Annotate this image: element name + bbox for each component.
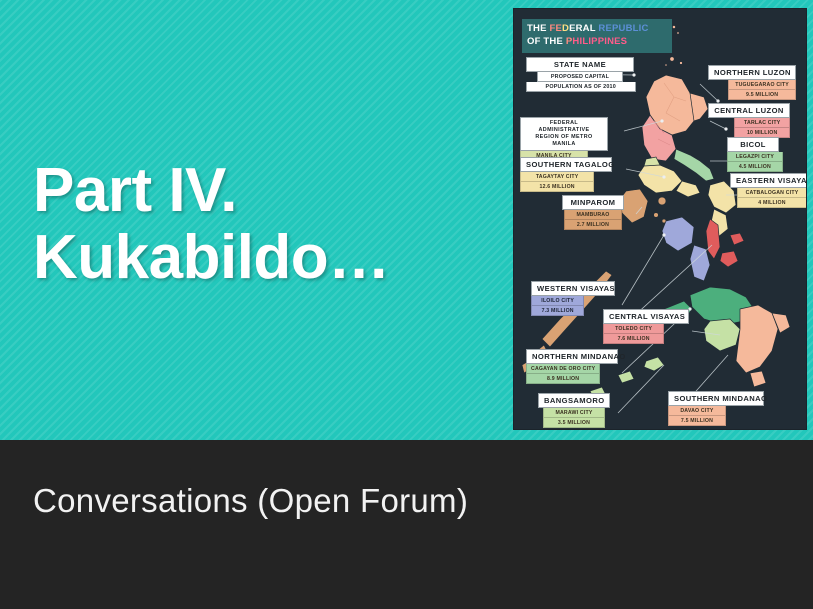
callout-southern-mindanao: SOUTHERN MINDANAO DAVAO CITY 7.5 MILLION: [668, 391, 764, 426]
state-name-central-visayas: CENTRAL VISAYAS: [603, 309, 689, 324]
state-capital-northern-mindanao: CAGAYAN DE ORO CITY: [526, 364, 600, 374]
map-title-line-2: OF THE PHILIPPINES: [527, 36, 667, 49]
callout-minparom: MINPAROM MAMBURAO 2.7 MILLION: [562, 195, 624, 230]
state-capital-central-visayas: TOLEDO CITY: [603, 324, 664, 334]
state-capital-bicol: LEGAZPI CITY: [727, 152, 783, 162]
state-name-southern-mindanao: SOUTHERN MINDANAO: [668, 391, 764, 406]
slide-subtitle: Conversations (Open Forum): [33, 482, 468, 520]
callout-central-visayas: CENTRAL VISAYAS TOLEDO CITY 7.6 MILLION: [603, 309, 689, 344]
state-population-southern-tagalog: 12.6 MILLION: [520, 182, 594, 192]
state-population-northern-mindanao: 8.9 MILLION: [526, 374, 600, 384]
callout-southern-tagalog: SOUTHERN TAGALOG TAGAYTAY CITY 12.6 MILL…: [520, 157, 612, 192]
callout-bicol: BICOL LEGAZPI CITY 4.5 MILLION: [727, 137, 779, 172]
state-name-eastern-visayas: EASTERN VISAYAS: [730, 173, 807, 188]
state-capital-bangsamoro: MARAWI CITY: [543, 408, 606, 418]
state-population-western-visayas: 7.3 MILLION: [531, 306, 584, 316]
state-capital-southern-tagalog: TAGAYTAY CITY: [520, 172, 594, 182]
state-name-western-visayas: WESTERN VISAYAS: [531, 281, 615, 296]
state-population-minparom: 2.7 MILLION: [564, 220, 623, 230]
map-title: THE FEDERAL REPUBLIC OF THE PHILIPPINES: [522, 19, 672, 53]
state-name-bangsamoro: BANGSAMORO: [538, 393, 610, 408]
state-capital-southern-mindanao: DAVAO CITY: [668, 406, 726, 416]
state-capital-minparom: MAMBURAO: [564, 210, 623, 220]
state-name-bicol: BICOL: [727, 137, 779, 152]
state-population-bicol: 4.5 MILLION: [727, 162, 783, 172]
legend-proposed-capital: PROPOSED CAPITAL: [537, 72, 623, 82]
state-name-metro-manila: FEDERAL ADMINISTRATIVE REGION OF METRO M…: [520, 117, 608, 151]
callout-eastern-visayas: EASTERN VISAYAS CATBALOGAN CITY 4 MILLIO…: [730, 173, 807, 208]
state-name-northern-mindanao: NORTHERN MINDANAO: [526, 349, 618, 364]
legend-population: POPULATION AS OF 2010: [526, 82, 636, 92]
map-title-line-1: THE FEDERAL REPUBLIC: [527, 23, 667, 36]
legend-state-name: STATE NAME: [526, 57, 634, 72]
state-population-eastern-visayas: 4 MILLION: [737, 198, 807, 208]
map-legend: STATE NAME PROPOSED CAPITAL POPULATION A…: [526, 57, 634, 92]
state-name-central-luzon: CENTRAL LUZON: [708, 103, 790, 118]
callout-central-luzon: CENTRAL LUZON TARLAC CITY 10 MILLION: [708, 103, 790, 138]
state-population-bangsamoro: 3.5 MILLION: [543, 418, 606, 428]
page-title: Part IV. Kukabildo…: [33, 158, 493, 292]
state-capital-western-visayas: ILOILO CITY: [531, 296, 584, 306]
state-capital-eastern-visayas: CATBALOGAN CITY: [737, 188, 807, 198]
callout-bangsamoro: BANGSAMORO MARAWI CITY 3.5 MILLION: [538, 393, 610, 428]
state-name-northern-luzon: NORTHERN LUZON: [708, 65, 796, 80]
philippines-federal-map: THE FEDERAL REPUBLIC OF THE PHILIPPINES …: [513, 8, 807, 430]
state-population-northern-luzon: 9.5 MILLION: [728, 90, 796, 100]
state-name-southern-tagalog: SOUTHERN TAGALOG: [520, 157, 612, 172]
callout-northern-luzon: NORTHERN LUZON TUGUEGARAO CITY 9.5 MILLI…: [708, 65, 796, 100]
state-name-minparom: MINPAROM: [562, 195, 624, 210]
callout-northern-mindanao: NORTHERN MINDANAO CAGAYAN DE ORO CITY 8.…: [526, 349, 618, 384]
slide-footer-band: [0, 440, 813, 609]
presentation-slide: Part IV. Kukabildo… Conversations (Open …: [0, 0, 813, 609]
state-population-central-visayas: 7.6 MILLION: [603, 334, 664, 344]
state-population-southern-mindanao: 7.5 MILLION: [668, 416, 726, 426]
state-capital-central-luzon: TARLAC CITY: [734, 118, 790, 128]
state-capital-northern-luzon: TUGUEGARAO CITY: [728, 80, 796, 90]
